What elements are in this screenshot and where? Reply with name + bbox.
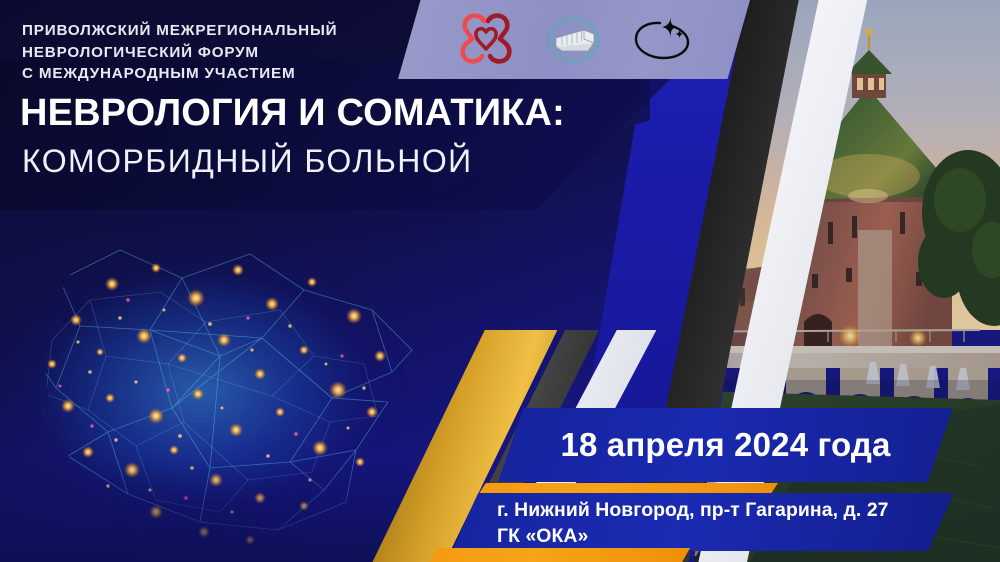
oval-star-logo bbox=[630, 9, 694, 71]
event-venue: г. Нижний Новгород, пр-т Гагарина, д. 27… bbox=[497, 498, 957, 550]
event-kicker: ПРИВОЛЖСКИЙ МЕЖРЕГИОНАЛЬНЫЙ НЕВРОЛОГИЧЕС… bbox=[22, 20, 422, 85]
kicker-line-3: С МЕЖДУНАРОДНЫМ УЧАСТИЕМ bbox=[22, 63, 422, 85]
venue-line-2: ГК «ОКА» bbox=[497, 524, 957, 550]
event-poster: ПРИВОЛЖСКИЙ МЕЖРЕГИОНАЛЬНЫЙ НЕВРОЛОГИЧЕС… bbox=[0, 0, 1000, 562]
kicker-line-2: НЕВРОЛОГИЧЕСКИЙ ФОРУМ bbox=[22, 42, 422, 64]
interlocking-hearts-logo bbox=[454, 9, 518, 71]
logo-row bbox=[398, 0, 750, 79]
venue-line-1: г. Нижний Новгород, пр-т Гагарина, д. 27 bbox=[497, 498, 957, 524]
page-title: НЕВРОЛОГИЯ И СОМАТИКА: bbox=[20, 94, 565, 134]
page-subtitle: КОМОРБИДНЫЙ БОЛЬНОЙ bbox=[22, 145, 473, 179]
hospital-wreath-logo bbox=[542, 9, 606, 71]
event-date: 18 апреля 2024 года bbox=[498, 408, 953, 482]
kicker-line-1: ПРИВОЛЖСКИЙ МЕЖРЕГИОНАЛЬНЫЙ bbox=[22, 20, 422, 42]
orange-accent-bar-bottom bbox=[430, 548, 690, 562]
